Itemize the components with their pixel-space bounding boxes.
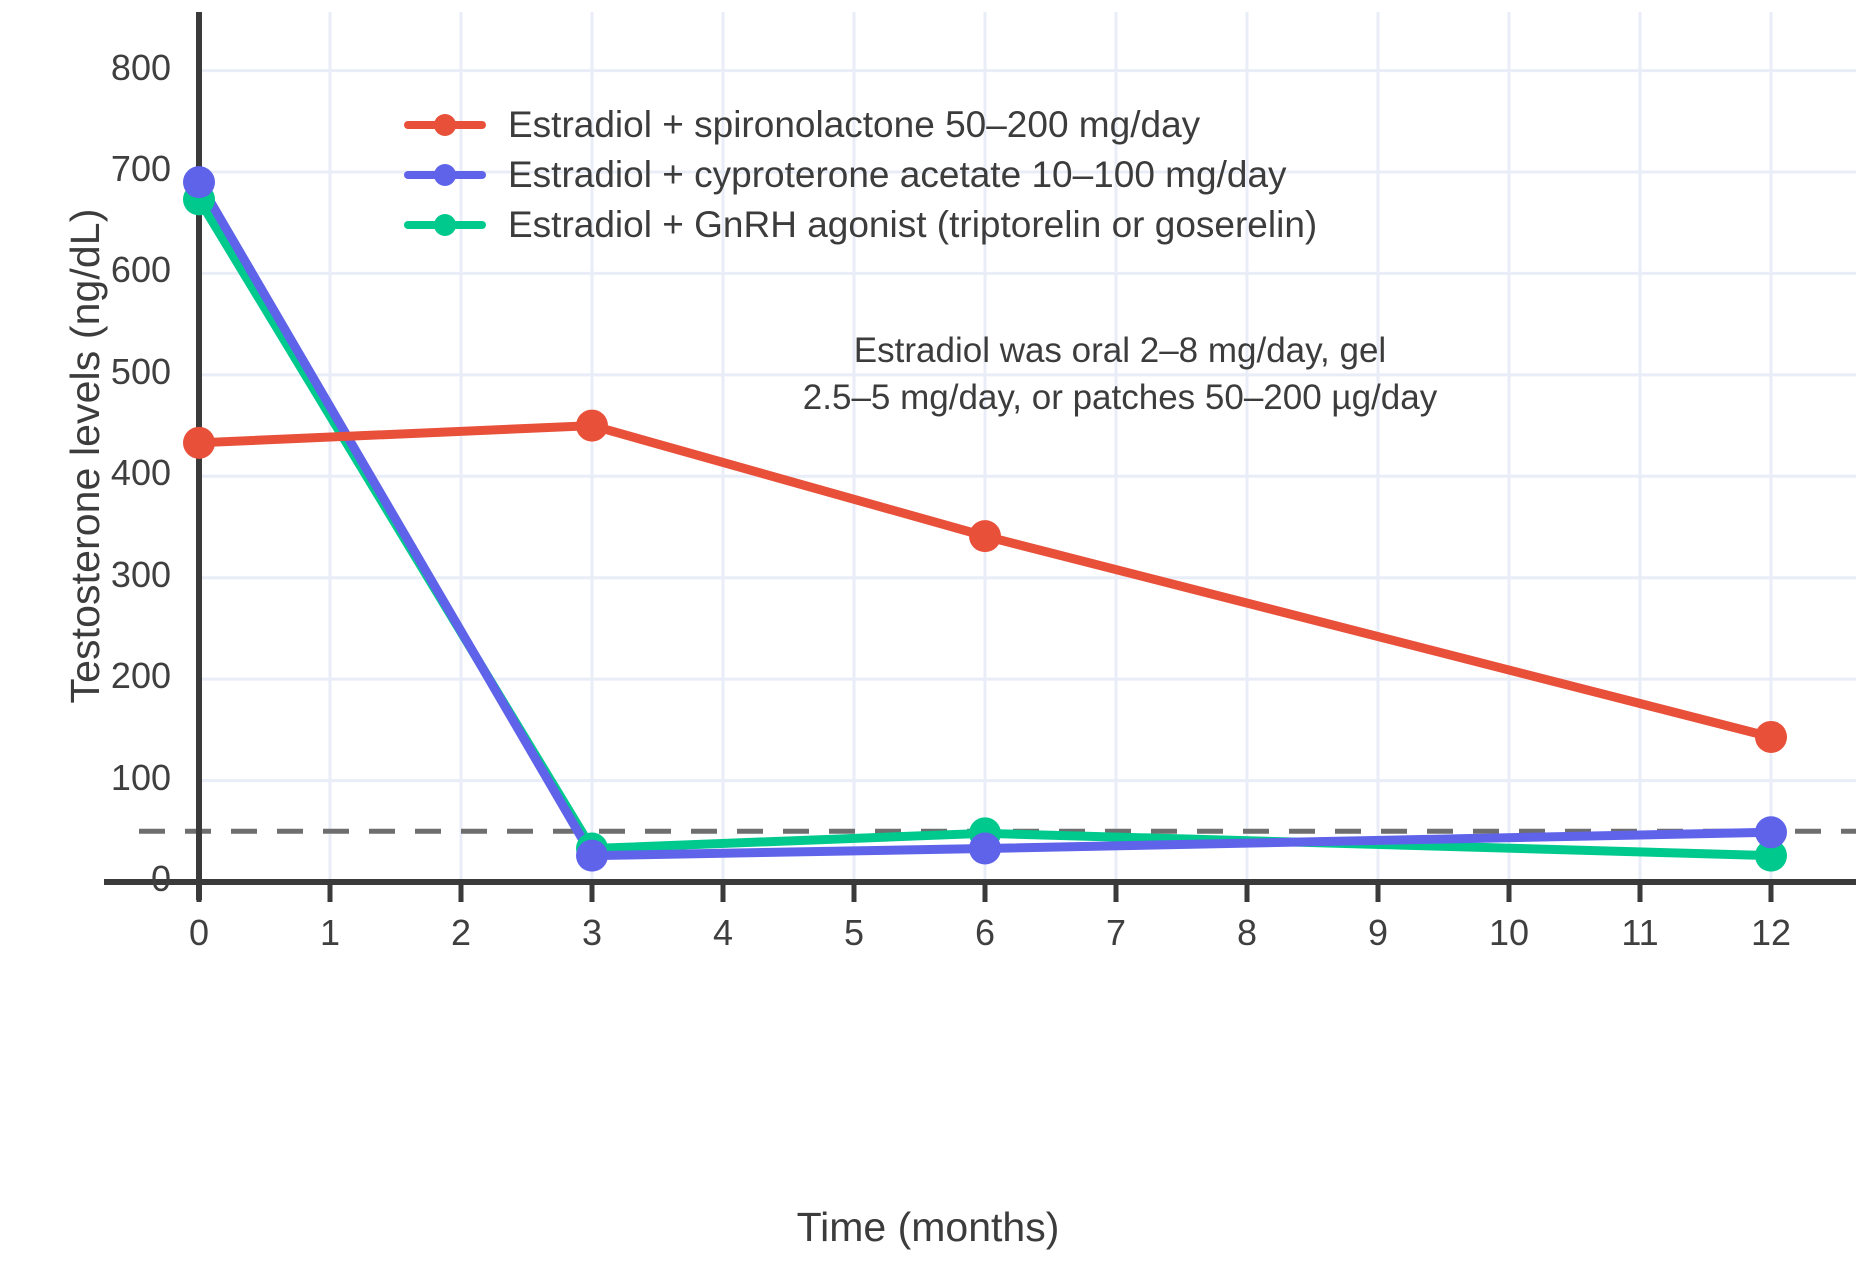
legend-marker-icon [404, 108, 486, 142]
data-point [1755, 721, 1787, 753]
x-tick-label: 11 [1580, 912, 1700, 954]
y-tick-label: 200 [0, 655, 171, 697]
estradiol-dose-annotation: Estradiol was oral 2–8 mg/day, gel 2.5–5… [770, 328, 1470, 421]
data-point [1755, 816, 1787, 848]
data-point [183, 427, 215, 459]
x-tick-label: 6 [925, 912, 1045, 954]
x-axis-title: Time (months) [0, 1204, 1856, 1251]
y-tick-label: 300 [0, 554, 171, 596]
y-tick-label: 600 [0, 249, 171, 291]
x-tick-label: 0 [139, 912, 259, 954]
legend-marker-icon [404, 208, 486, 242]
x-tick-label: 4 [663, 912, 783, 954]
x-tick-label: 10 [1449, 912, 1569, 954]
x-tick-label: 7 [1056, 912, 1176, 954]
y-tick-label: 700 [0, 148, 171, 190]
x-tick-label: 3 [532, 912, 652, 954]
chart-legend: Estradiol + spironolactone 50–200 mg/day… [404, 106, 1317, 243]
y-tick-label: 500 [0, 351, 171, 393]
x-tick-label: 8 [1187, 912, 1307, 954]
x-tick-label: 12 [1711, 912, 1831, 954]
data-point [969, 520, 1001, 552]
x-tick-label: 9 [1318, 912, 1438, 954]
data-point [969, 833, 1001, 865]
data-point [576, 840, 608, 872]
legend-label: Estradiol + GnRH agonist (triptorelin or… [508, 206, 1317, 243]
legend-label: Estradiol + cyproterone acetate 10–100 m… [508, 156, 1287, 193]
x-tick-label: 2 [401, 912, 521, 954]
y-tick-label: 0 [0, 858, 171, 900]
legend-marker-icon [404, 158, 486, 192]
data-point [183, 166, 215, 198]
y-tick-label: 400 [0, 452, 171, 494]
legend-item-1[interactable]: Estradiol + cyproterone acetate 10–100 m… [404, 156, 1317, 193]
legend-item-2[interactable]: Estradiol + GnRH agonist (triptorelin or… [404, 206, 1317, 243]
annotation-line-2: 2.5–5 mg/day, or patches 50–200 µg/day [770, 375, 1470, 422]
legend-label: Estradiol + spironolactone 50–200 mg/day [508, 106, 1200, 143]
x-tick-label: 1 [270, 912, 390, 954]
testosterone-line-chart: Testosterone levels (ng/dL) Time (months… [0, 0, 1856, 1284]
annotation-line-1: Estradiol was oral 2–8 mg/day, gel [770, 328, 1470, 375]
legend-item-0[interactable]: Estradiol + spironolactone 50–200 mg/day [404, 106, 1317, 143]
data-point [576, 410, 608, 442]
x-tick-label: 5 [794, 912, 914, 954]
y-tick-label: 800 [0, 47, 171, 89]
y-tick-label: 100 [0, 757, 171, 799]
